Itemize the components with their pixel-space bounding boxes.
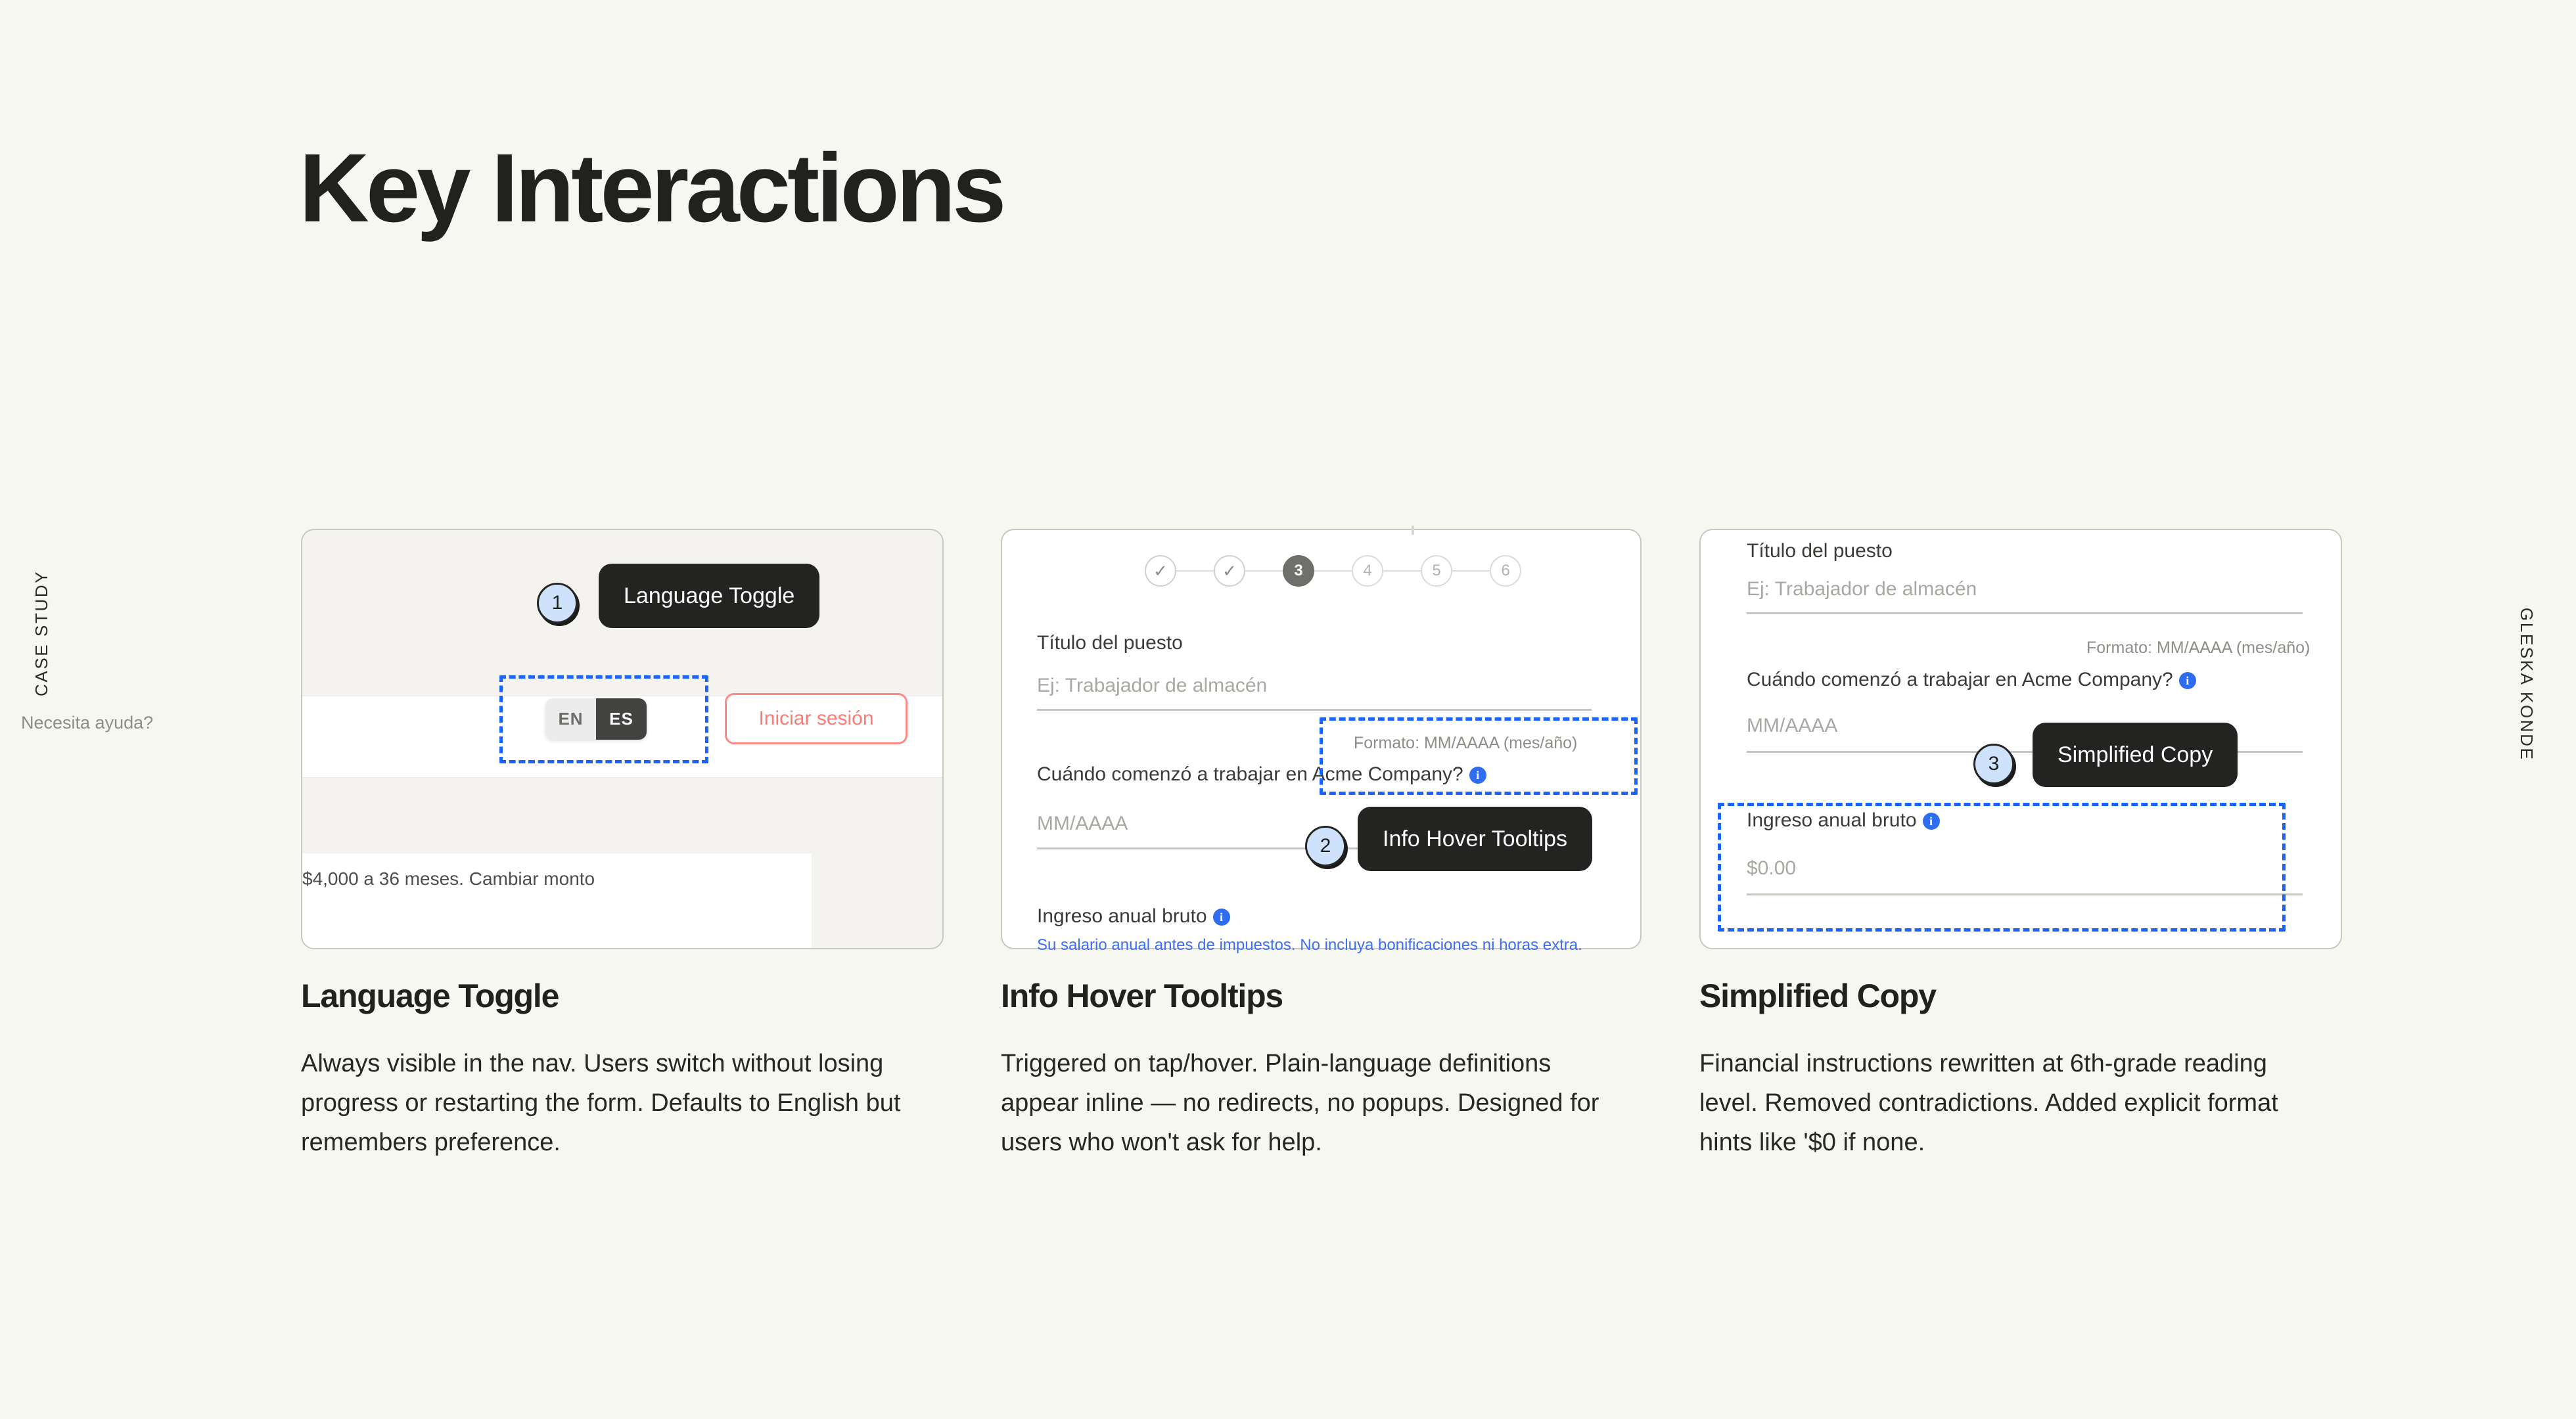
callout-badge-3[interactable]: 3 bbox=[1973, 744, 2014, 784]
field-label-gross-income-text-c2: Ingreso anual bruto bbox=[1037, 905, 1207, 927]
info-icon-start-date-c2[interactable]: i bbox=[1469, 767, 1486, 784]
field-placeholder-job-title-c3[interactable]: Ej: Trabajador de almacén bbox=[1747, 578, 1977, 600]
info-icon-start-date-c3[interactable]: i bbox=[2179, 672, 2196, 689]
caption-body-2: Triggered on tap/hover. Plain-language d… bbox=[1001, 1044, 1625, 1162]
field-placeholder-job-title-c2[interactable]: Ej: Trabajador de almacén bbox=[1037, 675, 1267, 697]
caption-simplified-copy: Simplified Copy Financial instructions r… bbox=[1699, 979, 2324, 1162]
loan-amount-text[interactable]: $4,000 a 36 meses. Cambiar monto bbox=[302, 868, 595, 890]
step-1[interactable]: ✓ bbox=[1145, 555, 1176, 587]
callout-pill-language-toggle[interactable]: Language Toggle bbox=[599, 564, 819, 628]
field-label-job-title-c3: Título del puesto bbox=[1747, 540, 1893, 562]
mock-amount-panel bbox=[302, 853, 812, 949]
field-underline-job-title-c3 bbox=[1747, 612, 2303, 614]
field-label-gross-income-text-c3: Ingreso anual bruto bbox=[1747, 809, 1917, 831]
field-placeholder-start-date-c2[interactable]: MM/AAAA bbox=[1037, 813, 1128, 835]
language-toggle-control[interactable]: EN ES bbox=[545, 698, 647, 740]
field-placeholder-gross-income-c3[interactable]: $0.00 bbox=[1747, 857, 1796, 880]
info-icon-gross-income-c2[interactable]: i bbox=[1213, 909, 1230, 926]
step-bar-4 bbox=[1383, 570, 1421, 572]
step-bar-1 bbox=[1176, 570, 1214, 572]
callout-badge-2[interactable]: 2 bbox=[1305, 826, 1346, 867]
info-icon-gross-income-c3[interactable]: i bbox=[1923, 813, 1940, 830]
slide-canvas: Key Interactions CASE STUDY GLESKA KONDE… bbox=[0, 0, 2576, 1419]
caption-title-3: Simplified Copy bbox=[1699, 979, 2324, 1014]
callout-pill-info-hover-tooltips[interactable]: Info Hover Tooltips bbox=[1358, 807, 1592, 871]
field-label-gross-income-c3: Ingreso anual brutoi bbox=[1747, 809, 1940, 832]
field-hint-date-format-c3: Formato: MM/AAAA (mes/año) bbox=[2086, 639, 2310, 658]
form-stepper: ✓ ✓ 3 4 5 6 bbox=[1145, 555, 1521, 587]
step-2[interactable]: ✓ bbox=[1214, 555, 1245, 587]
caption-language-toggle: Language Toggle Always visible in the na… bbox=[301, 979, 925, 1162]
field-label-job-title-c2: Título del puesto bbox=[1037, 632, 1183, 654]
step-3[interactable]: 3 bbox=[1283, 555, 1314, 587]
step-bar-5 bbox=[1452, 570, 1490, 572]
field-label-start-date-text-c2: Cuándo comenzó a trabajar en Acme Compan… bbox=[1037, 763, 1463, 785]
login-button[interactable]: Iniciar sesión bbox=[725, 693, 908, 744]
caption-info-hover-tooltips: Info Hover Tooltips Triggered on tap/hov… bbox=[1001, 979, 1625, 1162]
step-4[interactable]: 4 bbox=[1352, 555, 1383, 587]
step-6[interactable]: 6 bbox=[1490, 555, 1521, 587]
field-placeholder-start-date-c3[interactable]: MM/AAAA bbox=[1747, 715, 1837, 737]
help-link[interactable]: Necesita ayuda? bbox=[21, 713, 153, 733]
lang-option-es[interactable]: ES bbox=[596, 698, 647, 740]
caption-body-3: Financial instructions rewritten at 6th-… bbox=[1699, 1044, 2324, 1162]
field-underline-gross-income-c3 bbox=[1747, 893, 2303, 895]
step-5[interactable]: 5 bbox=[1421, 555, 1452, 587]
caption-title-1: Language Toggle bbox=[301, 979, 925, 1014]
caption-title-2: Info Hover Tooltips bbox=[1001, 979, 1625, 1014]
callout-badge-1[interactable]: 1 bbox=[537, 583, 578, 623]
caption-body-1: Always visible in the nav. Users switch … bbox=[301, 1044, 925, 1162]
field-help-gross-income-c2: Su salario anual antes de impuestos. No … bbox=[1037, 936, 1582, 955]
card-notch bbox=[1412, 526, 1414, 535]
lang-option-en[interactable]: EN bbox=[545, 698, 596, 740]
field-label-start-date-c2: Cuándo comenzó a trabajar en Acme Compan… bbox=[1037, 763, 1486, 786]
callout-pill-simplified-copy[interactable]: Simplified Copy bbox=[2033, 723, 2238, 787]
field-label-start-date-text-c3: Cuándo comenzó a trabajar en Acme Compan… bbox=[1747, 669, 2173, 690]
field-label-gross-income-c2: Ingreso anual brutoi bbox=[1037, 905, 1230, 928]
step-bar-2 bbox=[1245, 570, 1283, 572]
cards-row: Necesita ayuda? EN ES Iniciar sesión $4,… bbox=[0, 0, 2576, 1419]
field-label-start-date-c3: Cuándo comenzó a trabajar en Acme Compan… bbox=[1747, 669, 2196, 691]
field-underline-job-title-c2 bbox=[1037, 709, 1592, 711]
field-hint-date-format-c2: Formato: MM/AAAA (mes/año) bbox=[1354, 734, 1577, 753]
step-bar-3 bbox=[1314, 570, 1352, 572]
